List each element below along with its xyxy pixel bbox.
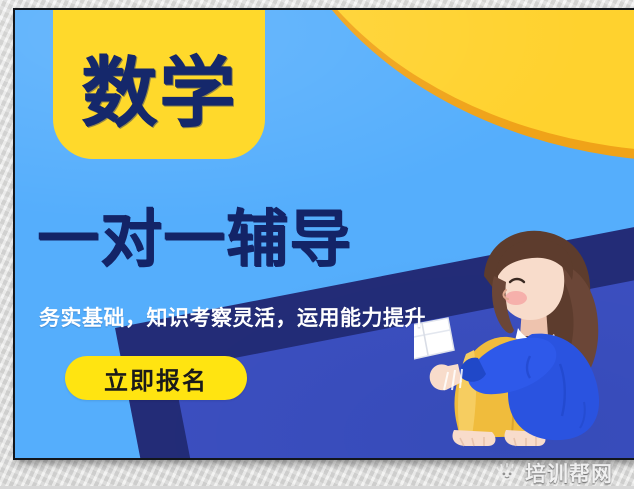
sun-smiley-icon (496, 462, 518, 484)
enroll-now-button-label: 立即报名 (104, 361, 208, 396)
banner-subtitle: 务实基础，知识考察灵活，运用能力提升 (39, 302, 539, 332)
course-promo-banner: 数学 (13, 8, 634, 460)
page-root: 数学 (0, 0, 634, 486)
subject-badge: 数学 (53, 10, 265, 159)
arc-yellow-shape (264, 10, 634, 152)
site-watermark-label: 培训帮网 (525, 458, 613, 488)
page-title: 一对一辅导 (37, 206, 507, 271)
subject-badge-label: 数学 (81, 55, 237, 159)
enroll-now-button[interactable]: 立即报名 (65, 356, 247, 400)
banner-canvas: 数学 (15, 10, 634, 458)
site-watermark: 培训帮网 (496, 458, 613, 488)
